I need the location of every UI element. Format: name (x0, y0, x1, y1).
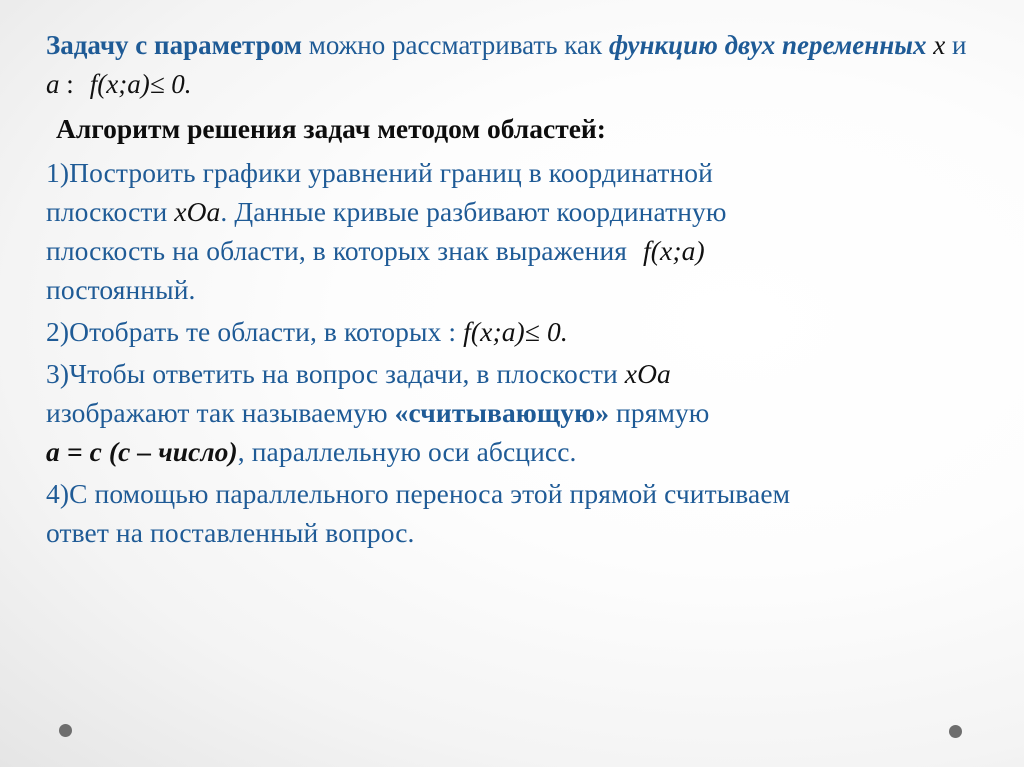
intro-colon: : (60, 69, 74, 99)
intro-bold-italic-phrase: функцию двух переменных (609, 30, 927, 60)
item-2-text-a: 2)Отобрать те области, в которых : (46, 316, 456, 347)
intro-text-2: и (945, 30, 966, 60)
item-4-line-2: ответ на поставленный вопрос. (46, 513, 976, 552)
list-item-2: 2)Отобрать те области, в которых :f(x;a)… (46, 312, 976, 351)
plane-notation-xoa: xOa (174, 196, 220, 227)
item-1-text-b: . Данные кривые разбивают координатную (220, 196, 726, 227)
decoration-dot-right (949, 725, 962, 738)
intro-var-x: x (926, 30, 945, 60)
item-3-text-c: прямую (609, 397, 709, 428)
item-1-line-4: постоянный. (46, 270, 976, 309)
plane-notation-xoa-2: xOa (625, 358, 671, 389)
item-3-text-a: 3)Чтобы ответить на вопрос задачи, в пло… (46, 358, 625, 389)
item-3-formula: a = c (c – число) (46, 436, 238, 467)
item-3-quoted-term: «считывающую» (395, 397, 609, 428)
item-3-text-b: изображают так называемую (46, 397, 395, 428)
intro-text-1: можно рассматривать как (302, 30, 609, 60)
decoration-dot-left (59, 724, 72, 737)
algorithm-heading: Алгоритм решения задач методом областей: (56, 111, 986, 147)
list-item-1: 1)Построить графики уравнений границ в к… (46, 153, 976, 309)
presentation-slide: Задачу с параметром можно рассматривать … (0, 0, 1024, 767)
list-item-4: 4)С помощью параллельного переноса этой … (46, 474, 976, 552)
item-3-text-d: , параллельную оси абсцисс. (238, 436, 577, 467)
intro-bold-lead: Задачу с параметром (46, 30, 302, 60)
item-2-formula: f(x;a)≤ 0. (463, 316, 568, 347)
item-1-line-3: плоскость на области, в которых знак выр… (46, 231, 976, 270)
item-1-line-2: плоскости xOa. Данные кривые разбивают к… (46, 192, 976, 231)
item-2-line-1: 2)Отобрать те области, в которых :f(x;a)… (46, 312, 976, 351)
intro-var-a: a (46, 69, 60, 99)
list-item-3: 3)Чтобы ответить на вопрос задачи, в пло… (46, 354, 976, 471)
item-3-line-2: изображают так называемую «считывающую» … (46, 393, 976, 432)
item-3-line-1: 3)Чтобы ответить на вопрос задачи, в пло… (46, 354, 976, 393)
intro-paragraph: Задачу с параметром можно рассматривать … (46, 26, 976, 104)
item-3-line-3: a = c (c – число), параллельную оси абсц… (46, 432, 976, 471)
item-1-line-1: 1)Построить графики уравнений границ в к… (46, 153, 976, 192)
item-1-text-a: плоскости (46, 196, 174, 227)
item-1-text-c: плоскость на области, в которых знак выр… (46, 235, 627, 266)
item-1-formula: f(x;a) (643, 235, 705, 266)
intro-formula: f(x;a)≤ 0. (90, 69, 192, 99)
item-4-line-1: 4)С помощью параллельного переноса этой … (46, 474, 976, 513)
slide-content: Задачу с параметром можно рассматривать … (46, 26, 986, 556)
